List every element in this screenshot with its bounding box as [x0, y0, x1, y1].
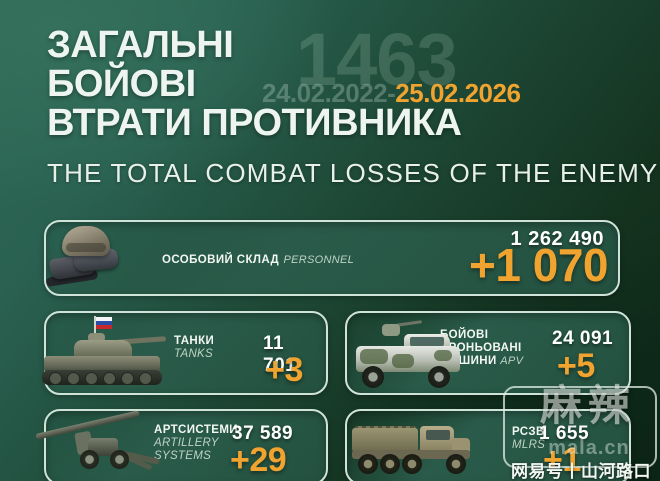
apv-label-ua-line-2: БРОНЬОВАНІ [440, 342, 523, 355]
card-tanks: ТАНКИ TANKS 11 701 +3 [44, 311, 328, 395]
artillery-label-en-line-1: ARTILLERY [154, 437, 238, 450]
page-title: ЗАГАЛЬНІ БОЙОВІ ВТРАТИ ПРОТИВНИКА [47, 26, 647, 143]
artillery-label-en-line-2: SYSTEMS [154, 450, 238, 463]
apv-label-en: APV [500, 355, 523, 367]
apv-labels: БОЙОВІ БРОНЬОВАНІ МАШИНИ APV [440, 329, 523, 368]
poster-header: 1463 24.02.2022-25.02.2026 ЗАГАЛЬНІ БОЙО… [0, 0, 660, 200]
personnel-label-ua: ОСОБОВИЙ СКЛАД [162, 254, 279, 266]
tanks-label-ua: ТАНКИ [174, 335, 214, 348]
tanks-labels: ТАНКИ TANKS [174, 335, 214, 361]
artillery-delta: +29 [230, 443, 286, 477]
tanks-label-en: TANKS [174, 348, 214, 361]
tanks-delta: +3 [265, 353, 303, 387]
artillery-labels: АРТСИСТЕМИ ARTILLERY SYSTEMS [154, 424, 238, 463]
card-personnel: ОСОБОВИЙ СКЛАД PERSONNEL 1 262 490 +1 07… [44, 220, 620, 296]
title-line-3: ВТРАТИ ПРОТИВНИКА [47, 104, 647, 143]
apv-label-ua-line-3-text: МАШИНИ [440, 355, 497, 367]
watermark-logo: 麻辣 [524, 384, 652, 428]
watermark-bar: 网易号丨山河路口 [505, 457, 657, 481]
infographic-poster: 1463 24.02.2022-25.02.2026 ЗАГАЛЬНІ БОЙО… [0, 0, 660, 481]
apv-delta: +5 [557, 349, 595, 383]
personnel-label-en: PERSONNEL [284, 254, 355, 266]
title-line-2: БОЙОВІ [47, 65, 647, 104]
personnel-labels: ОСОБОВИЙ СКЛАД PERSONNEL [162, 250, 354, 268]
artillery-label-ua: АРТСИСТЕМИ [154, 424, 238, 437]
personnel-delta: +1 070 [469, 242, 608, 288]
apv-label-ua-line-1: БОЙОВІ [440, 329, 523, 342]
card-artillery: АРТСИСТЕМИ ARTILLERY SYSTEMS 37 589 +29 [44, 409, 328, 481]
apv-label-ua-line-3: МАШИНИ APV [440, 355, 523, 368]
subtitle: THE TOTAL COMBAT LOSSES OF THE ENEMY [47, 160, 658, 186]
title-line-1: ЗАГАЛЬНІ [47, 26, 647, 65]
